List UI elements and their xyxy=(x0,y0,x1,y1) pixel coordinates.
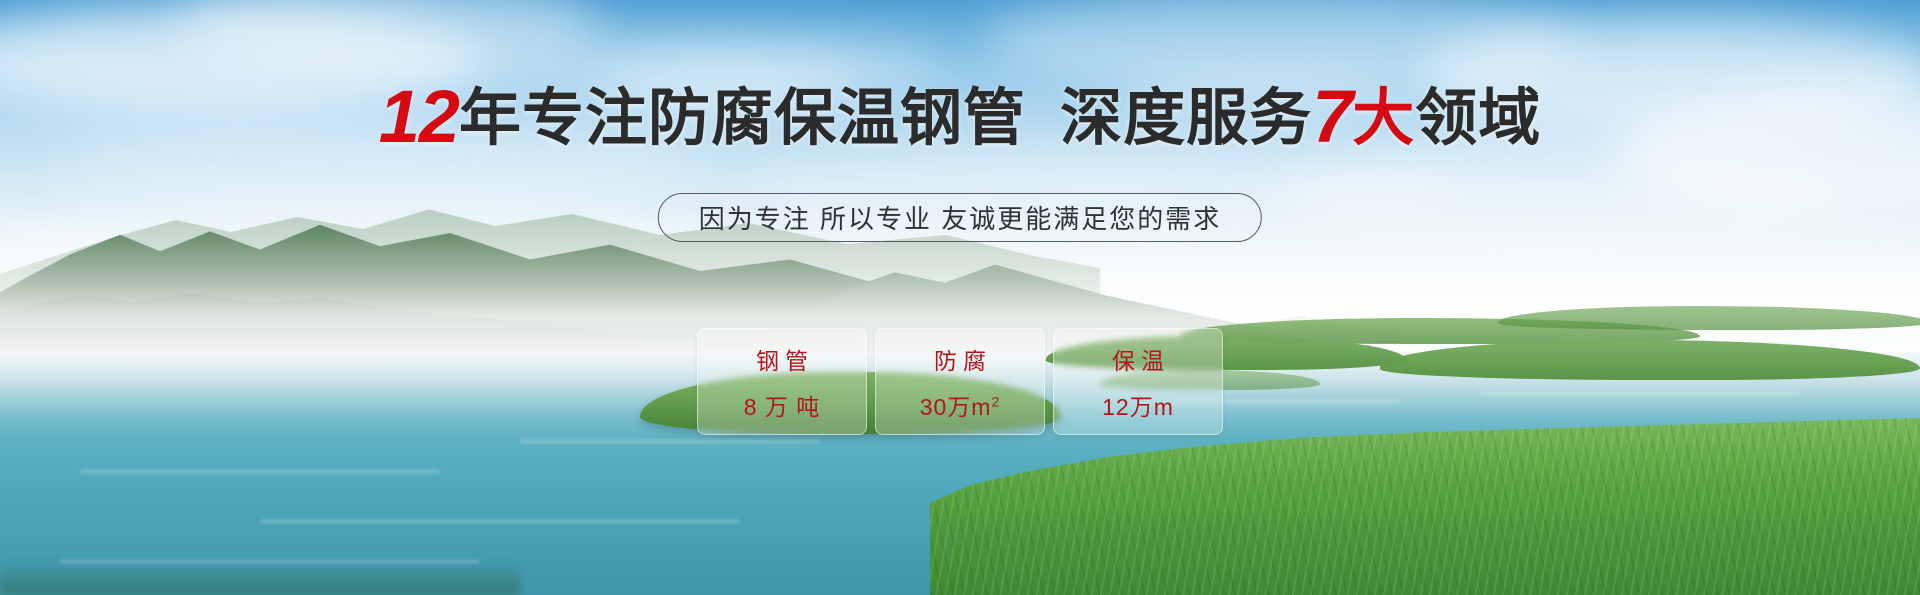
stat-value: 12万m xyxy=(1102,388,1174,422)
stat-value-number: 12万m xyxy=(1102,394,1174,420)
headline-number-fields: 7 xyxy=(1312,75,1352,158)
stat-title: 防腐 xyxy=(928,342,992,376)
headline-number-years: 12 xyxy=(379,75,459,158)
headline-red-word: 大 xyxy=(1352,84,1415,153)
subtitle-text: 因为专注 所以专业 友诚更能满足您的需求 xyxy=(699,199,1221,236)
page-title: 12年专注防腐保温钢管深度服务7大领域 xyxy=(0,80,1920,154)
stat-value-exponent: 2 xyxy=(991,393,1000,409)
stat-card-insulation[interactable]: 保温 12万m xyxy=(1053,328,1223,435)
stat-card-steel-pipe[interactable]: 钢管 8 万 吨 xyxy=(697,328,867,435)
subtitle-pill: 因为专注 所以专业 友诚更能满足您的需求 xyxy=(658,193,1262,242)
stat-card-group: 钢管 8 万 吨 防腐 30万m2 保温 12万m xyxy=(697,328,1223,435)
stat-card-anticorrosion[interactable]: 防腐 30万m2 xyxy=(875,328,1045,435)
water-ripple xyxy=(260,520,740,523)
headline-part-1: 年专注防腐保温钢管 xyxy=(459,84,1026,153)
stat-value-number: 30万m xyxy=(920,394,992,420)
hero-banner: 12年专注防腐保温钢管深度服务7大领域 因为专注 所以专业 友诚更能满足您的需求… xyxy=(0,0,1920,595)
headline-part-2: 深度服务 xyxy=(1060,84,1312,153)
shore-shadow xyxy=(0,560,520,595)
stat-title: 钢管 xyxy=(750,342,814,376)
water-ripple xyxy=(1480,392,1800,395)
headline-part-3: 领域 xyxy=(1415,84,1541,153)
water-ripple xyxy=(520,440,820,443)
stat-value: 30万m2 xyxy=(920,388,1001,422)
stat-title: 保温 xyxy=(1106,342,1170,376)
stat-value-number: 8 万 吨 xyxy=(744,394,821,420)
water-ripple xyxy=(80,470,440,473)
stat-value: 8 万 吨 xyxy=(744,388,821,422)
